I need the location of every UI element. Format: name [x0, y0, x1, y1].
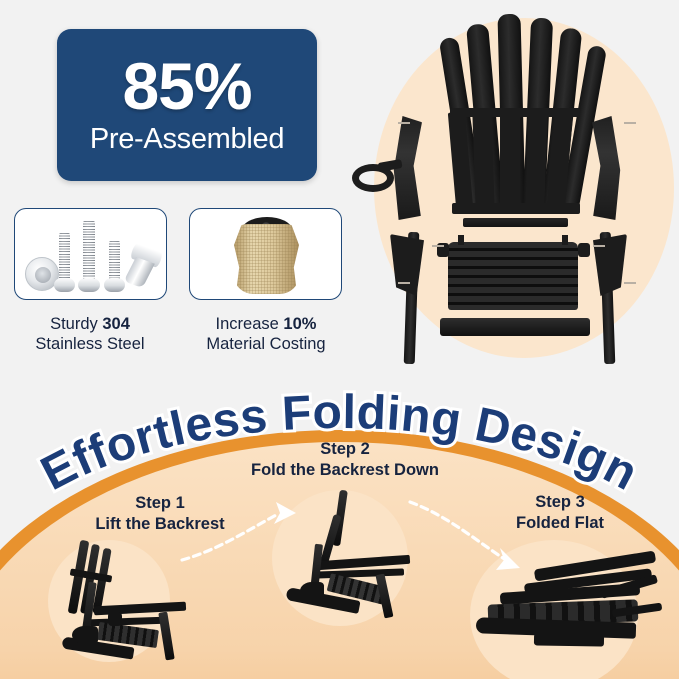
step-3-label: Step 3 Folded Flat — [470, 492, 650, 533]
chair-folding-figure — [276, 490, 436, 620]
step-description: Fold the Backrest Down — [235, 460, 455, 481]
top-section: 85% Pre-Assembled — [0, 0, 679, 372]
right-seat-hinge — [578, 243, 590, 257]
chair-upright-figure — [46, 538, 206, 658]
pre-assembled-badge: 85% Pre-Assembled — [57, 29, 317, 181]
backrest-lower-slat — [525, 112, 547, 210]
right-rear-bracket — [593, 234, 627, 296]
feature-card-screws — [14, 208, 167, 300]
screw-part — [59, 233, 70, 283]
feature-caption-material: Increase 10% Material Costing — [176, 314, 356, 354]
step-1-label: Step 1 Lift the Backrest — [60, 493, 260, 534]
caption-line-2: Stainless Steel — [35, 335, 144, 353]
caption-highlight: 10% — [283, 315, 316, 333]
guide-dash — [398, 282, 410, 284]
seat-back-rail — [463, 218, 568, 227]
seat-knob — [562, 235, 568, 245]
backrest-top-rail — [450, 108, 580, 117]
screws-icon — [15, 209, 166, 299]
guide-dash — [624, 122, 636, 124]
screw-part — [83, 221, 95, 283]
step-2-label: Step 2 Fold the Backrest Down — [235, 439, 455, 480]
caption-prefix: Sturdy — [50, 315, 102, 333]
backrest-lower-slat — [500, 112, 520, 209]
caption-highlight: 304 — [102, 315, 130, 333]
sack-body — [234, 224, 299, 294]
pivot-bracket — [72, 626, 98, 644]
step-number: Step 2 — [235, 439, 455, 460]
left-rear-bracket — [390, 234, 424, 296]
caption-prefix: Increase — [216, 315, 284, 333]
step-number: Step 3 — [470, 492, 650, 513]
chair-folded-flat-figure — [472, 554, 662, 664]
caption-line-1: Increase 10% — [216, 315, 317, 333]
feature-card-material — [189, 208, 342, 300]
seat-slats — [448, 242, 578, 310]
guide-dash — [624, 282, 636, 284]
feature-caption-screws: Sturdy 304 Stainless Steel — [0, 314, 180, 354]
badge-percent-value: 85% — [122, 54, 251, 119]
badge-subtitle: Pre-Assembled — [90, 123, 284, 156]
burlap-sack-icon — [190, 209, 341, 299]
step-description: Folded Flat — [470, 513, 650, 534]
front-leg — [158, 612, 174, 661]
caption-line-1: Sturdy 304 — [50, 315, 130, 333]
folded-leg — [534, 633, 604, 646]
guide-dash — [593, 245, 605, 247]
step-number: Step 1 — [60, 493, 260, 514]
backrest-bottom-rail — [452, 203, 580, 214]
guide-dash — [398, 122, 410, 124]
infographic-page: 85% Pre-Assembled — [0, 0, 679, 679]
bolt-part — [121, 243, 165, 293]
screw-part — [109, 241, 120, 283]
front-stretcher — [440, 318, 590, 336]
caption-line-2: Material Costing — [206, 335, 325, 353]
cup-holder — [108, 612, 122, 626]
seat-knob — [458, 235, 464, 245]
backrest-lower-slat — [472, 112, 494, 210]
folding-design-section: Effortless Folding Design Step 1 Lift th… — [0, 372, 679, 679]
exploded-adirondack-chair — [340, 0, 679, 372]
right-armrest — [592, 116, 622, 220]
guide-dash — [432, 245, 444, 247]
pivot-bracket — [300, 582, 324, 600]
step-description: Lift the Backrest — [60, 514, 260, 535]
